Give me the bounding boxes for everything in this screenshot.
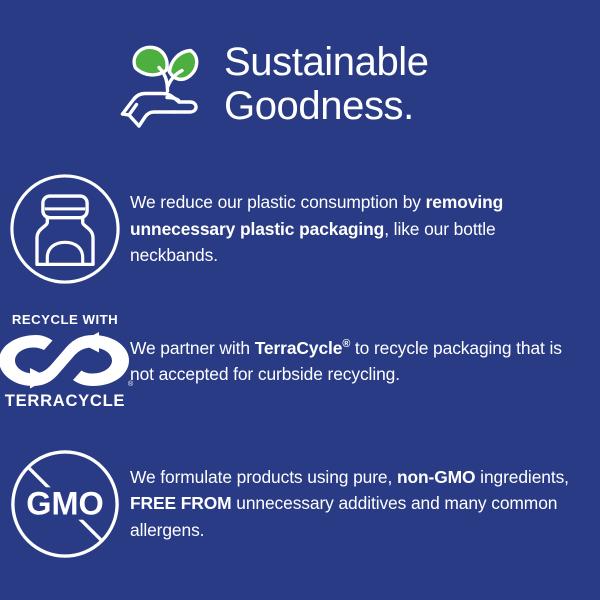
feature-row-terracycle: RECYCLE WITH ® TERRACYCL (0, 300, 600, 422)
bottle-neckband-icon (0, 171, 130, 287)
text-seg-1: TerraCycle (255, 338, 343, 358)
terracycle-bottom-label: TERRACYCLE (5, 392, 125, 410)
text-seg-2: ® (342, 338, 350, 350)
text-seg-0: We partner with (130, 338, 255, 358)
feature-row-nongmo: GMO We formulate products using pure, no… (0, 436, 600, 571)
text-seg-1: non-GMO (397, 467, 476, 487)
feature-text-plastic: We reduce our plastic consumption by rem… (130, 189, 600, 269)
text-seg-3: FREE FROM (130, 493, 232, 513)
page-title: Sustainable Goodness. (224, 40, 429, 132)
sustainable-goodness-infographic: Sustainable Goodness. We reduce our plas… (0, 0, 600, 600)
terracycle-top-label: RECYCLE WITH (12, 312, 118, 327)
feature-row-plastic: We reduce our plastic consumption by rem… (0, 163, 600, 295)
text-seg-0: We formulate products using pure, (130, 467, 397, 487)
feature-text-terracycle: We partner with TerraCycle® to recycle p… (130, 335, 600, 388)
no-gmo-icon: GMO (0, 446, 130, 562)
header: Sustainable Goodness. (0, 26, 600, 146)
feature-text-nongmo: We formulate products using pure, non-GM… (130, 464, 600, 544)
gmo-label: GMO (26, 485, 103, 521)
hand-holding-sprout-icon (112, 34, 216, 138)
infinity-loop-arrows-icon: ® (0, 330, 135, 390)
text-seg-2: ingredients, (475, 467, 568, 487)
text-seg-0: We reduce our plastic consumption by (130, 192, 426, 212)
terracycle-logo: RECYCLE WITH ® TERRACYCL (0, 312, 130, 410)
